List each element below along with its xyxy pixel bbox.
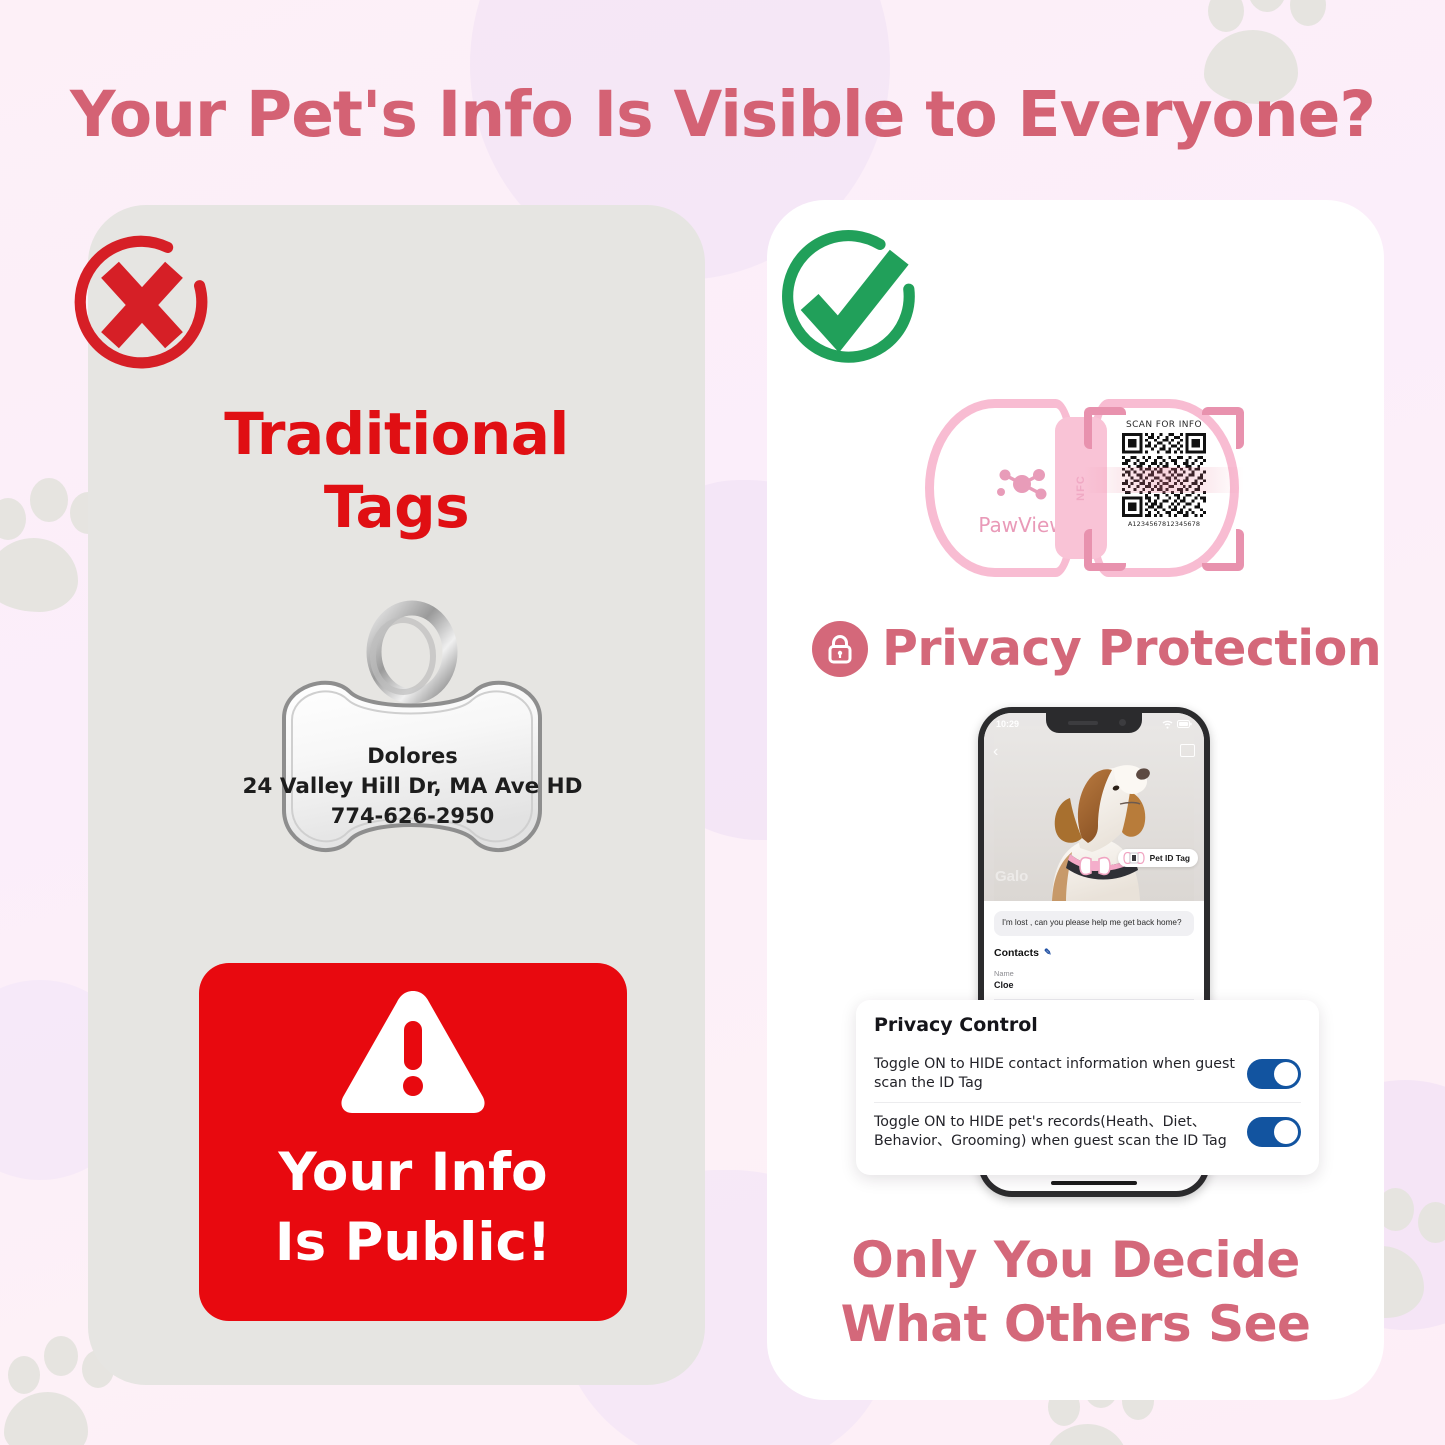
warning-text-line1: Your Info bbox=[275, 1138, 551, 1208]
front-camera-icon bbox=[1119, 719, 1126, 726]
contact-field-name-label: Name bbox=[994, 969, 1194, 978]
pet-id-tag-chip-label: Pet ID Tag bbox=[1150, 853, 1190, 863]
warning-text: Your Info Is Public! bbox=[275, 1138, 551, 1278]
pet-id-tag-chip[interactable]: Pet ID Tag bbox=[1118, 849, 1198, 867]
page-title: Your Pet's Info Is Visible to Everyone? bbox=[0, 78, 1445, 151]
status-time: 10:29 bbox=[996, 719, 1019, 729]
tag-pet-name: Dolores bbox=[235, 742, 590, 772]
public-info-warning-box: Your Info Is Public! bbox=[199, 963, 627, 1321]
lock-icon bbox=[812, 621, 868, 677]
bottom-headline: Only You Decide What Others See bbox=[767, 1228, 1384, 1356]
contact-field-name-value: Cloe bbox=[994, 980, 1194, 990]
engraved-tag-text: Dolores 24 Valley Hill Dr, MA Ave HD 774… bbox=[235, 742, 590, 832]
privacy-control-row[interactable]: Toggle ON to HIDE contact information wh… bbox=[874, 1045, 1301, 1102]
contact-field-name: Name Cloe bbox=[994, 969, 1194, 990]
molecule-icon bbox=[991, 464, 1053, 504]
pet-name-overlay: Galo bbox=[995, 868, 1028, 885]
toggle-knob bbox=[1274, 1120, 1298, 1144]
warning-triangle-icon bbox=[337, 985, 489, 1124]
speaker-grille bbox=[1068, 721, 1098, 725]
bottom-headline-line1: Only You Decide bbox=[767, 1228, 1384, 1292]
chevron-left-icon[interactable]: ‹ bbox=[993, 743, 998, 761]
phone-notch bbox=[1046, 713, 1142, 733]
hide-contact-info-toggle[interactable] bbox=[1247, 1059, 1301, 1089]
lost-pet-message: I'm lost , can you please help me get ba… bbox=[994, 911, 1194, 936]
privacy-control-row[interactable]: Toggle ON to HIDE pet's records(Heath、Di… bbox=[874, 1103, 1301, 1160]
privacy-control-card: Privacy Control Toggle ON to HIDE contac… bbox=[856, 1000, 1319, 1175]
privacy-protection-heading: Privacy Protection bbox=[812, 620, 1372, 677]
contacts-header: Contacts ✎ bbox=[994, 947, 1194, 959]
privacy-control-row-label: Toggle ON to HIDE pet's records(Heath、Di… bbox=[874, 1113, 1235, 1150]
tag-address: 24 Valley Hill Dr, MA Ave HD bbox=[235, 772, 590, 803]
bottom-headline-line2: What Others See bbox=[767, 1292, 1384, 1356]
circle-x-icon bbox=[62, 225, 222, 385]
pet-hero-image: ‹ bbox=[984, 713, 1204, 901]
privacy-protection-title: Privacy Protection bbox=[882, 620, 1381, 677]
scan-beam bbox=[1084, 467, 1244, 493]
wifi-icon bbox=[1162, 720, 1173, 729]
battery-icon bbox=[1177, 720, 1192, 728]
pawview-nfc-tag-image: PawView NFC SCAN FOR INFO bbox=[915, 385, 1245, 590]
infographic-canvas: Your Pet's Info Is Visible to Everyone? … bbox=[0, 0, 1445, 1445]
home-indicator bbox=[1051, 1181, 1137, 1185]
traditional-tags-heading: Traditional Tags bbox=[88, 398, 705, 544]
bowtie-tag-icon bbox=[1123, 852, 1145, 864]
share-icon[interactable] bbox=[1180, 744, 1195, 757]
toggle-knob bbox=[1274, 1062, 1298, 1086]
circle-check-icon bbox=[768, 222, 928, 382]
privacy-control-title: Privacy Control bbox=[874, 1014, 1301, 1036]
traditional-tags-heading-line2: Tags bbox=[88, 471, 705, 544]
traditional-tags-heading-line1: Traditional bbox=[88, 398, 705, 471]
privacy-control-row-label: Toggle ON to HIDE contact information wh… bbox=[874, 1055, 1235, 1092]
warning-text-line2: Is Public! bbox=[275, 1208, 551, 1278]
tag-phone: 774-626-2950 bbox=[235, 802, 590, 832]
contacts-header-label: Contacts bbox=[994, 947, 1039, 959]
hide-pet-records-toggle[interactable] bbox=[1247, 1117, 1301, 1147]
pencil-icon[interactable]: ✎ bbox=[1044, 947, 1052, 958]
